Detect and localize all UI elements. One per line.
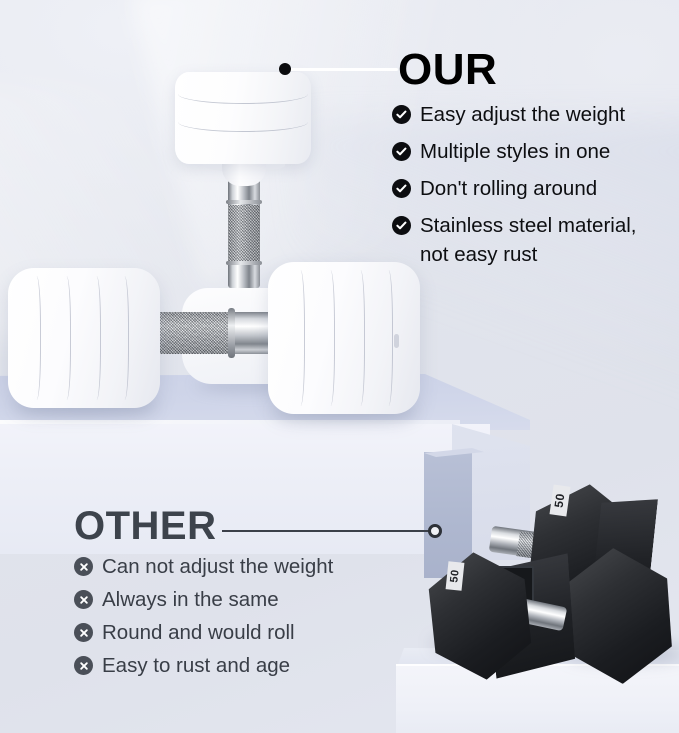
cross-circle-icon <box>74 590 93 609</box>
handle-collar <box>228 308 235 358</box>
feature-text: Multiple styles in one <box>420 137 610 166</box>
weight-plate-block <box>175 72 311 164</box>
handle-collar <box>226 261 262 265</box>
plate-seam <box>324 270 335 406</box>
list-item: Multiple styles in one <box>392 137 672 166</box>
feature-text: Don't rolling around <box>420 174 597 203</box>
check-circle-icon <box>392 216 411 235</box>
knurled-grip <box>228 205 260 263</box>
knurled-grip <box>156 312 234 354</box>
check-circle-icon <box>392 142 411 161</box>
handle-collar <box>226 200 262 204</box>
our-leader-dot <box>279 63 291 75</box>
plate-seam <box>118 276 129 400</box>
our-heading: OUR <box>398 48 672 92</box>
our-panel: OUR Easy adjust the weight Multiple styl… <box>392 48 672 278</box>
cross-circle-icon <box>74 623 93 642</box>
plate-seam <box>90 276 101 400</box>
check-circle-icon <box>392 179 411 198</box>
plate-hole <box>394 334 399 348</box>
plate-seam <box>30 276 41 400</box>
check-circle-icon <box>392 105 411 124</box>
list-item: Can not adjust the weight <box>74 552 404 581</box>
feature-text: Always in the same <box>102 585 279 614</box>
plate-seam <box>382 270 393 406</box>
other-leader-dot <box>428 524 442 538</box>
other-heading: OTHER <box>74 506 404 546</box>
list-item: Stainless steel material,not easy rust <box>392 211 672 269</box>
cross-circle-icon <box>74 656 93 675</box>
other-feature-list: Can not adjust the weight Always in the … <box>74 552 404 680</box>
list-item: Always in the same <box>74 585 404 614</box>
list-item: Easy adjust the weight <box>392 100 672 129</box>
weight-plate-stack-left <box>8 268 160 408</box>
weight-plate-stack-right <box>268 262 420 414</box>
feature-text: Easy adjust the weight <box>420 100 625 129</box>
plate-seam <box>60 276 71 400</box>
list-item: Round and would roll <box>74 618 404 647</box>
list-item: Don't rolling around <box>392 174 672 203</box>
comparison-infographic: 50 50 OUR Easy adjust the weight <box>0 0 679 733</box>
other-panel: OTHER Can not adjust the weight Always i… <box>74 506 404 684</box>
upper-pedestal-edge <box>0 420 460 424</box>
list-item: Easy to rust and age <box>74 651 404 680</box>
feature-text: Stainless steel material,not easy rust <box>420 211 636 269</box>
weight-label: 50 <box>446 561 465 591</box>
feature-text: Easy to rust and age <box>102 651 290 680</box>
lower-platform-front <box>396 666 679 733</box>
back-slab <box>424 452 472 578</box>
feature-text: Round and would roll <box>102 618 295 647</box>
plate-seam <box>354 270 365 406</box>
our-leader-line <box>288 68 398 71</box>
feature-text: Can not adjust the weight <box>102 552 333 581</box>
cross-circle-icon <box>74 557 93 576</box>
our-feature-list: Easy adjust the weight Multiple styles i… <box>392 100 672 270</box>
plate-seam <box>294 270 305 406</box>
weight-plate-stack <box>175 72 311 164</box>
